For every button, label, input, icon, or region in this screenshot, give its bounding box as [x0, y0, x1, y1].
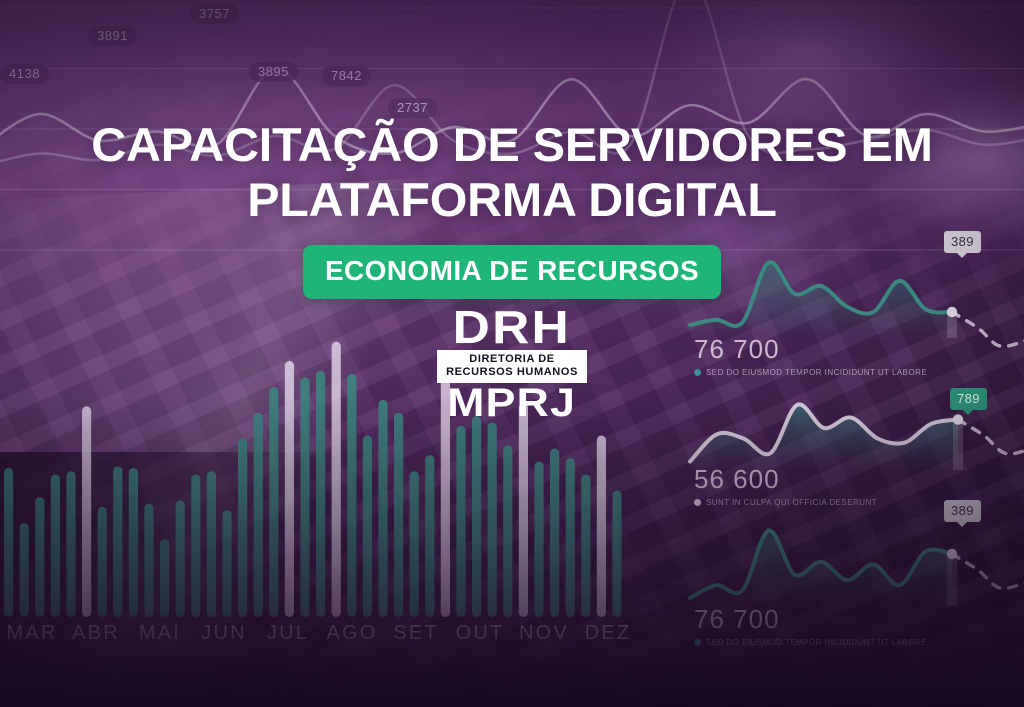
logo-subtitle: DIRETORIA DE RECURSOS HUMANOS — [437, 350, 587, 383]
promotional-banner: 413838913757389578422737 MARABRMAIJUNJUL… — [0, 0, 1024, 707]
logo-org: MPRJ — [448, 384, 577, 422]
logo-subtitle-line-1: DIRETORIA DE — [469, 353, 554, 365]
logo-acronym: DRH — [453, 306, 571, 348]
subtitle-badge-wrapper: ECONOMIA DE RECURSOS — [0, 245, 1024, 299]
logo-drh-mprj: DRH DIRETORIA DE RECURSOS HUMANOS MPRJ — [0, 306, 1024, 422]
logo-subtitle-line-2: RECURSOS HUMANOS — [446, 366, 578, 378]
subtitle-badge: ECONOMIA DE RECURSOS — [303, 245, 721, 299]
